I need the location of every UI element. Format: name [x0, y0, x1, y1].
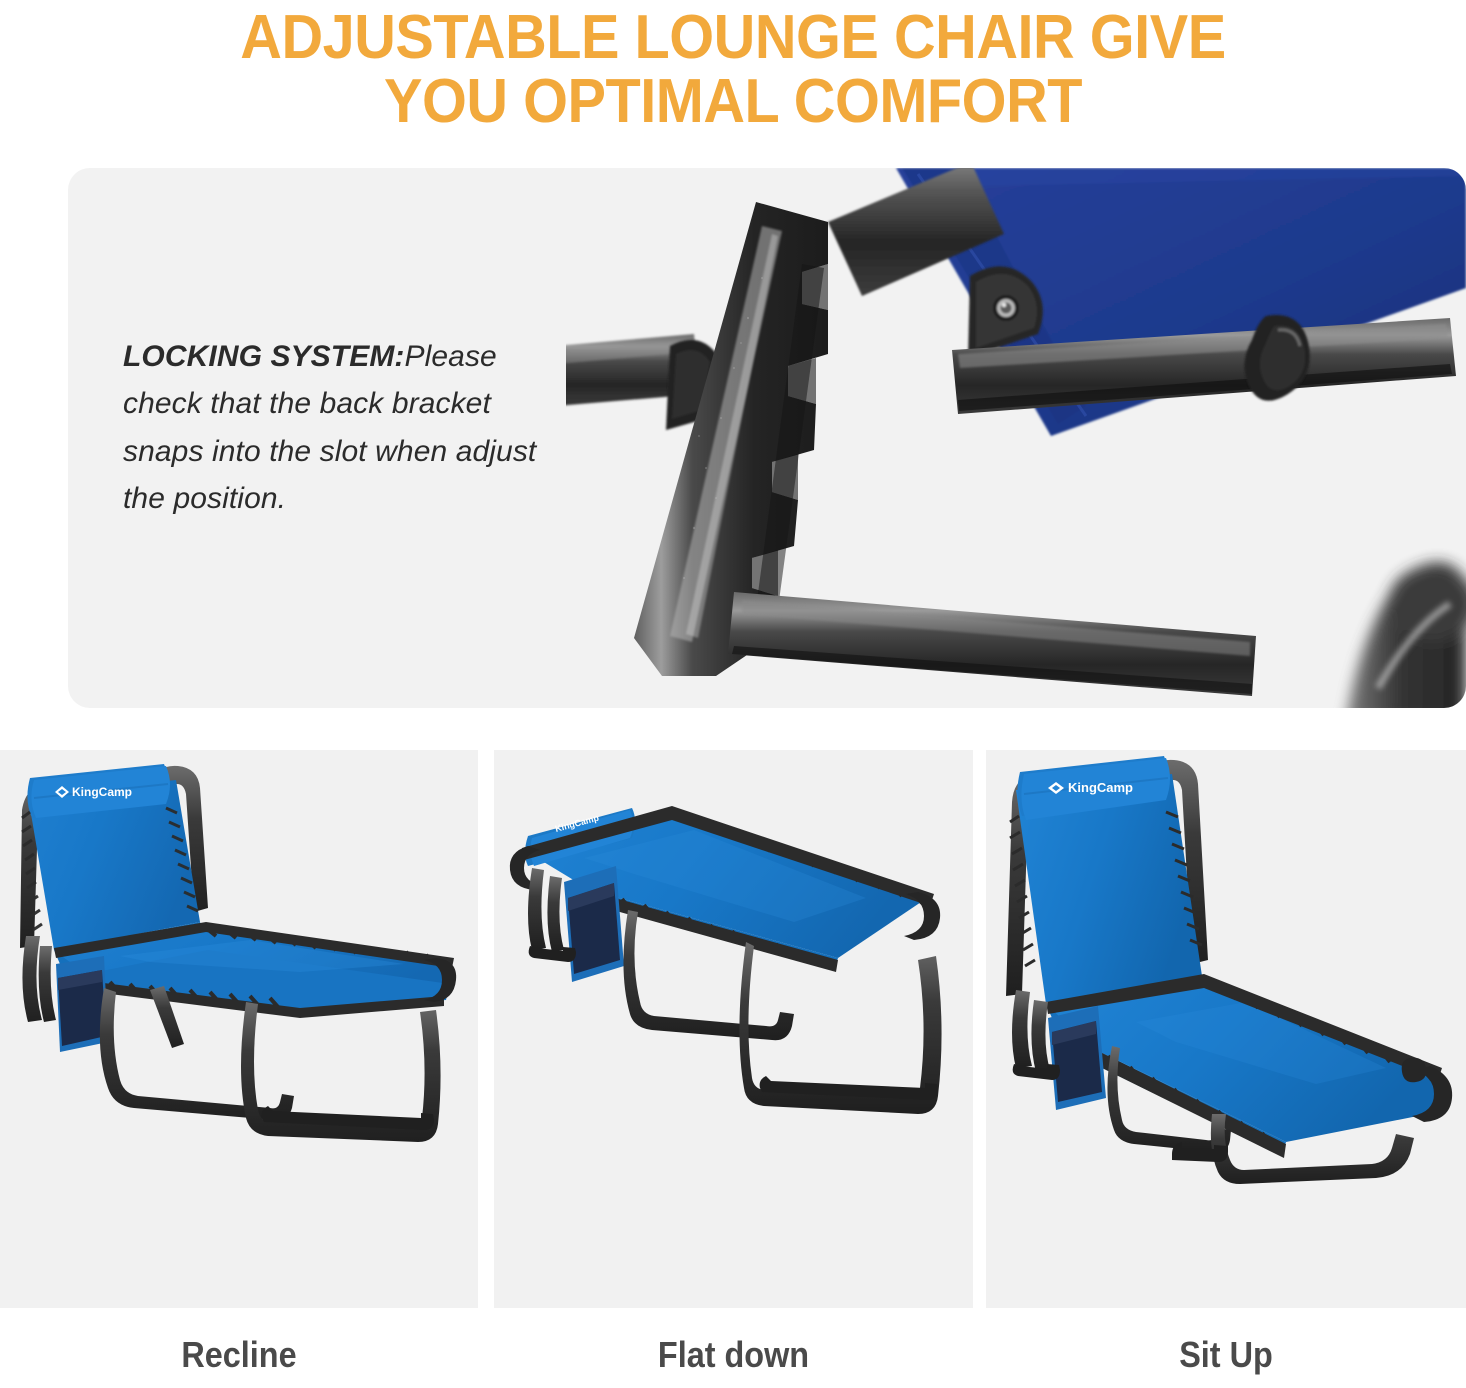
- mode-caption-flat-down: Flat down: [518, 1334, 949, 1376]
- locking-system-panel: LOCKING SYSTEM:Please check that the bac…: [68, 168, 1466, 708]
- mode-panel-recline: KingCamp: [0, 750, 478, 1308]
- locking-system-label: LOCKING SYSTEM:: [123, 340, 405, 373]
- locking-system-text: LOCKING SYSTEM:Please check that the bac…: [123, 333, 553, 523]
- page-headline: ADJUSTABLE LOUNGE CHAIR GIVE YOU OPTIMAL…: [51, 6, 1414, 134]
- mode-caption-sit-up: Sit Up: [1010, 1334, 1442, 1376]
- mode-caption-recline: Recline: [24, 1334, 454, 1376]
- mode-panel-sit-up: KingCamp: [986, 750, 1466, 1308]
- brand-logo-recline: KingCamp: [72, 785, 132, 799]
- mode-panel-flat-down: KingCamp: [494, 750, 973, 1308]
- brand-logo-situp: KingCamp: [1068, 780, 1133, 795]
- mode-gallery: KingCamp: [0, 750, 1466, 1388]
- locking-system-photo: [566, 168, 1466, 708]
